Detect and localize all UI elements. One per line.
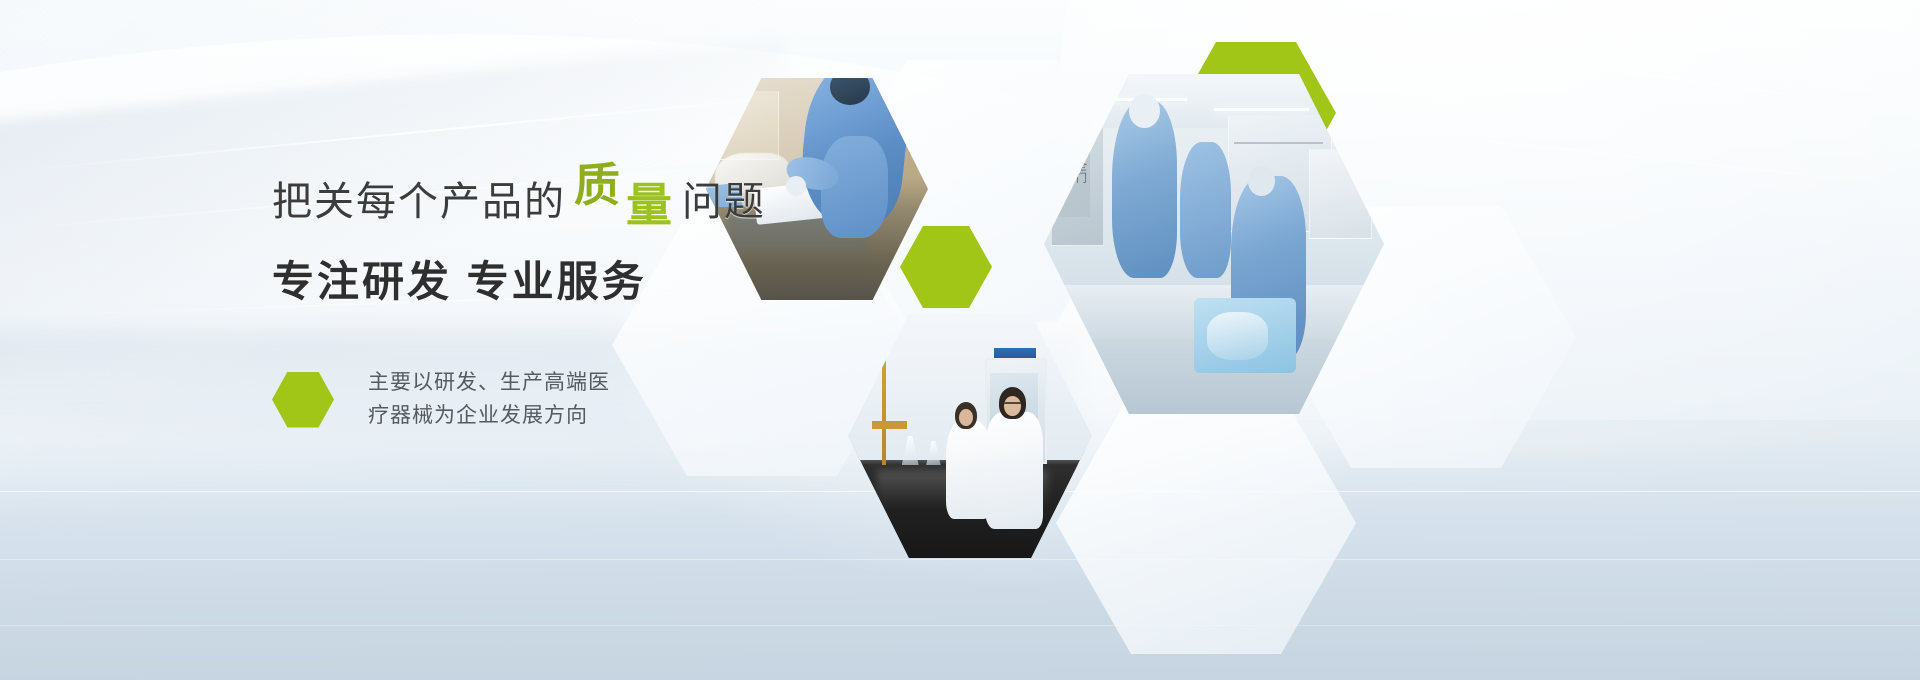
title-accent-first: 质 (574, 162, 622, 208)
floor-line-2 (0, 559, 1920, 560)
banner-copy: 把关每个产品的 质 量 问题 专注研发 专业服务 主要以研发、生产高端医 疗器械… (272, 176, 912, 432)
title-prefix: 把关每个产品的 (272, 182, 566, 222)
title-accent-second: 量 (626, 182, 674, 228)
banner-title: 把关每个产品的 质 量 问题 (272, 176, 912, 222)
title-suffix: 问题 (682, 182, 766, 222)
banner-stage: 安全门 (0, 0, 1920, 680)
description-line-2: 疗器械为企业发展方向 (368, 400, 610, 433)
floor-line-3 (0, 625, 1920, 626)
banner-subtitle: 专注研发 专业服务 (272, 248, 912, 309)
banner-description-row: 主要以研发、生产高端医 疗器械为企业发展方向 (272, 367, 912, 432)
hexagon-icon (272, 372, 334, 428)
banner-description: 主要以研发、生产高端医 疗器械为企业发展方向 (368, 367, 610, 432)
description-line-1: 主要以研发、生产高端医 (368, 367, 610, 400)
